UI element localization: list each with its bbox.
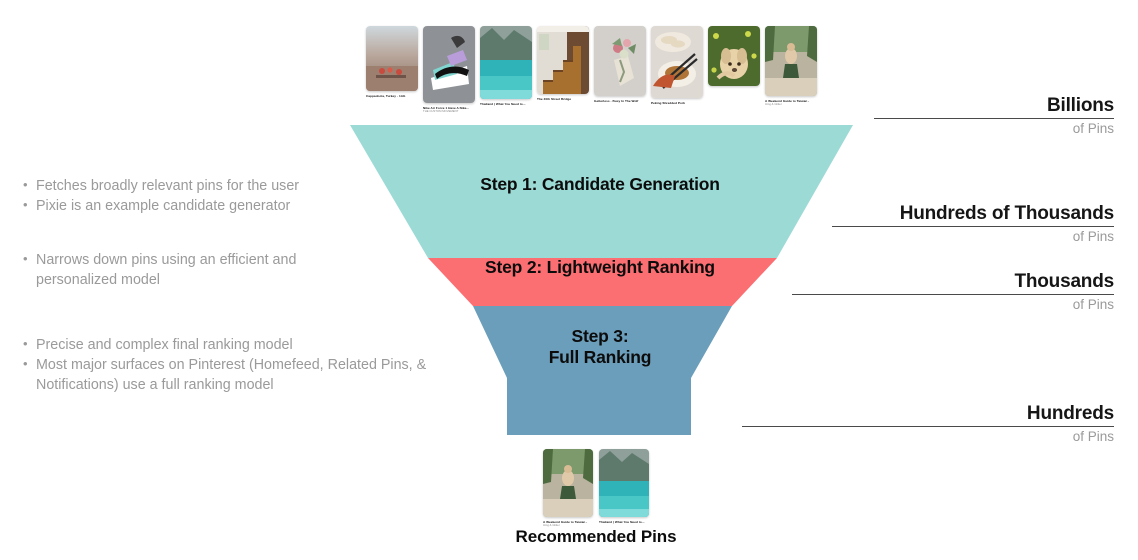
bullet-group-lightweight-ranking: Narrows down pins using an efficient and… <box>22 250 352 290</box>
scale-divider <box>874 118 1114 119</box>
pin-card[interactable]: Peking Shredded Pork <box>651 26 703 105</box>
pin-card[interactable]: Thailand | What You Need to... <box>599 449 649 528</box>
bullet-group-candidate-generation: Fetches broadly relevant pins for the us… <box>22 176 352 216</box>
recommended-pin-strip: A Weekend Guide to Taiwan - Icing & Glit… <box>541 449 651 528</box>
bullet-group-full-ranking: Precise and complex final ranking model … <box>22 335 452 395</box>
pin-card[interactable]: Cappadocia, Turkey - 1AG <box>366 26 418 98</box>
scale-magnitude: Hundreds of Thousands <box>832 202 1114 225</box>
scale-divider <box>832 226 1114 227</box>
pin-thumbnail-cappadocia[interactable] <box>366 26 418 91</box>
bullet-item: Most major surfaces on Pinterest (Homefe… <box>22 355 452 395</box>
scale-label-billions: Billions of Pins <box>874 94 1114 137</box>
scale-unit: of Pins <box>792 296 1114 313</box>
pin-card[interactable]: Nike Air Force 1 Have A Nike... THE CUST… <box>423 26 475 114</box>
bullet-item: Narrows down pins using an efficient and… <box>22 250 352 290</box>
pin-subtitle: Icing & Glitter <box>765 103 817 107</box>
recommended-pins-caption: Recommended Pins <box>446 527 746 547</box>
pin-title: Cappadocia, Turkey - 1AG <box>366 94 418 98</box>
scale-unit: of Pins <box>874 120 1114 137</box>
pin-thumbnail-taiwan-weekend[interactable] <box>543 449 593 517</box>
scale-magnitude: Thousands <box>792 270 1114 293</box>
pin-thumbnail-taiwan-weekend[interactable] <box>765 26 817 96</box>
pin-thumbnail-puppy[interactable] <box>708 26 760 86</box>
pin-thumbnail-thailand[interactable] <box>480 26 532 99</box>
scale-magnitude: Hundreds <box>742 402 1114 425</box>
pin-thumbnail-peking-pork[interactable] <box>651 26 703 98</box>
scale-magnitude: Billions <box>874 94 1114 117</box>
scale-divider <box>792 294 1114 295</box>
pin-thumbnail-staircase[interactable] <box>537 26 589 94</box>
pin-title: Thailand | What You Need to... <box>599 520 649 524</box>
pin-card[interactable]: Thailand | What You Need to... <box>480 26 532 106</box>
pin-subtitle: THE CUSTOM MOVEMENT <box>423 110 475 114</box>
pin-title: The 40th Street Bridge <box>537 97 589 101</box>
bullet-item: Fetches broadly relevant pins for the us… <box>22 176 352 196</box>
scale-unit: of Pins <box>832 228 1114 245</box>
scale-label-hundreds: Hundreds of Pins <box>742 402 1114 445</box>
scale-divider <box>742 426 1114 427</box>
top-pin-strip: Cappadocia, Turkey - 1AG Nike Air Force … <box>366 26 836 116</box>
scale-label-hundreds-of-thousands: Hundreds of Thousands of Pins <box>832 202 1114 245</box>
bullet-item: Precise and complex final ranking model <box>22 335 452 355</box>
pin-card[interactable]: A Weekend Guide to Taiwan - Icing & Glit… <box>765 26 817 107</box>
pin-thumbnail-nike-sneaker[interactable] <box>423 26 475 103</box>
scale-unit: of Pins <box>742 428 1114 445</box>
pin-card[interactable]: A Weekend Guide to Taiwan - Icing & Glit… <box>543 449 593 528</box>
pin-card[interactable]: Getterless - Busy In The Wolf <box>594 26 646 103</box>
bullet-item: Pixie is an example candidate generator <box>22 196 352 216</box>
pin-thumbnail-bouquet[interactable] <box>594 26 646 96</box>
scale-label-thousands: Thousands of Pins <box>792 270 1114 313</box>
pin-thumbnail-thailand[interactable] <box>599 449 649 517</box>
funnel-label-step2: Step 2: Lightweight Ranking <box>340 257 860 278</box>
pin-card[interactable]: The 40th Street Bridge <box>537 26 589 101</box>
pin-title: Thailand | What You Need to... <box>480 102 532 106</box>
pin-title: Getterless - Busy In The Wolf <box>594 99 646 103</box>
funnel-label-step1: Step 1: Candidate Generation <box>340 174 860 195</box>
pin-card[interactable] <box>708 26 760 89</box>
pin-title: Peking Shredded Pork <box>651 101 703 105</box>
